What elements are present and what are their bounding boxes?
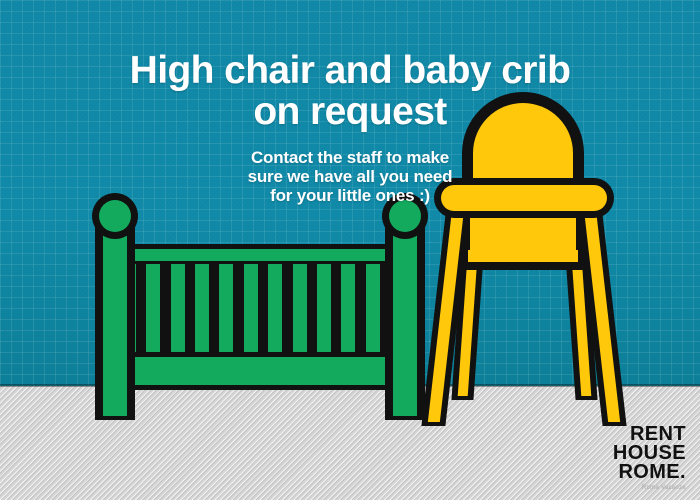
crib-slat [268, 264, 282, 356]
subtitle: Contact the staff to make sure we have a… [0, 148, 700, 205]
crib-slats [122, 264, 404, 356]
headline: High chair and baby crib on request [0, 50, 700, 132]
crib-slat [171, 264, 185, 356]
crib-slat [244, 264, 258, 356]
crib-slat [317, 264, 331, 356]
high-chair-seat [470, 212, 576, 254]
brand-logo: RENT HOUSE ROME. Roma Vacanze [613, 425, 686, 492]
poster: High chair and baby crib on request Cont… [0, 0, 700, 500]
headline-line-1: High chair and baby crib [130, 49, 571, 92]
crib-top-rail [122, 249, 404, 261]
crib-slat [195, 264, 209, 356]
crib-slat [146, 264, 160, 356]
high-chair-brace [468, 250, 578, 262]
crib-slat [366, 264, 380, 356]
subtitle-line-1: Contact the staff to make [0, 148, 700, 167]
subtitle-line-2: sure we have all you need [0, 167, 700, 186]
crib-slat [293, 264, 307, 356]
logo-line-3: ROME. [613, 463, 686, 482]
crib-slat [219, 264, 233, 356]
headline-line-2: on request [0, 91, 700, 132]
logo-tagline: Roma Vacanze [613, 484, 686, 492]
crib-lower-panel [124, 357, 402, 385]
crib-slat [341, 264, 355, 356]
crib-left-post [103, 230, 127, 416]
subtitle-line-3: for your little ones :) [0, 186, 700, 205]
crib-right-post [393, 230, 417, 416]
